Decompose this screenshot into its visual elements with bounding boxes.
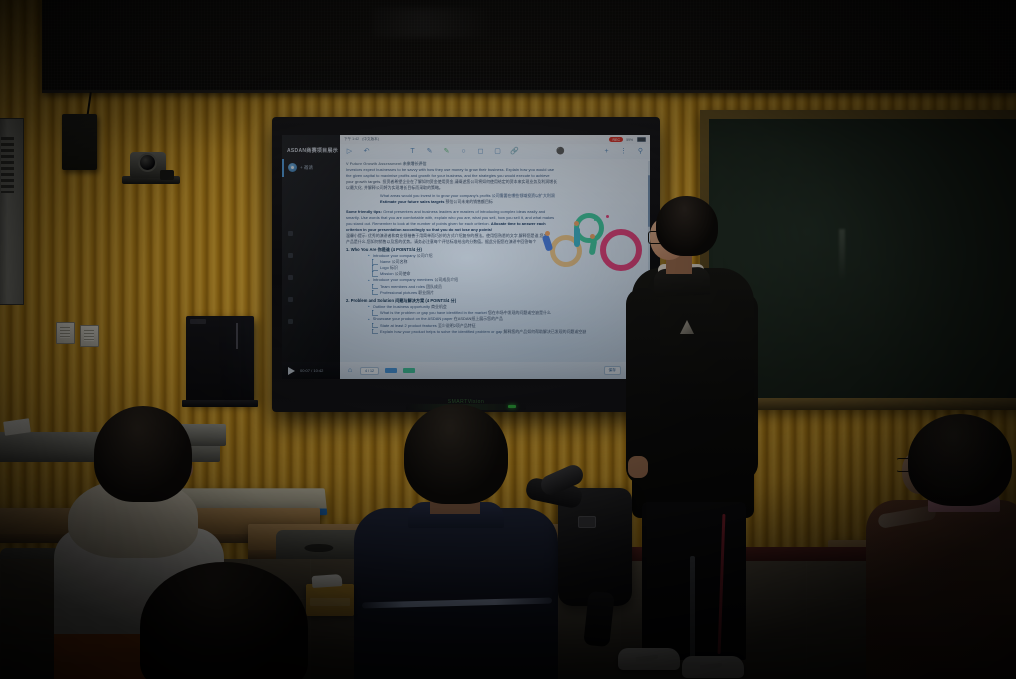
battery-label: 59% — [626, 138, 633, 142]
doc-paragraph-line-cn: 以最大化, 并解释公司将为实现增长目标而采取的策略。 — [346, 185, 644, 190]
item-cn: 职业照片 — [418, 290, 434, 295]
color-tag[interactable] — [385, 368, 397, 373]
link-icon[interactable]: 🔗 — [510, 147, 519, 156]
classroom-scene: ASDAN商赛项目展示 + 邀请 下午 1:42 (中文版本) REC — [0, 0, 1016, 679]
doc-bullet-bold-cn: 预估公司未来的销售额目标 — [446, 199, 493, 204]
student-hair — [404, 404, 508, 504]
shoe-swoosh-icon — [700, 663, 722, 670]
doc-tips-text: you stand out. Remember to look at the n… — [346, 221, 490, 226]
figure-blue-head — [545, 231, 550, 236]
wall-speaker — [62, 114, 97, 170]
item-text: Outline the business opportunity — [373, 304, 430, 309]
search-icon[interactable]: ⚲ — [636, 147, 645, 156]
doc-list-item: Explain how your product helps to solve … — [346, 329, 644, 334]
doc-heading-faded: V Future Growth Assessment 未来增长评估 — [346, 161, 644, 166]
doc-list-item: Mission 公司使命 — [346, 271, 644, 276]
spark-dot — [594, 219, 596, 221]
sidebar-item-4[interactable] — [288, 297, 293, 302]
cabinet-latch — [236, 323, 238, 349]
item-text: Introduce your company members — [373, 277, 434, 282]
doc-tips-bold: Allocate time to answer each — [491, 221, 546, 226]
section-title-cn: 你是谁 — [378, 247, 390, 252]
presenter-leg-gap — [690, 556, 695, 662]
item-text: What is the problem or gap you have iden… — [380, 310, 487, 315]
student-hair — [94, 406, 192, 502]
home-icon[interactable]: ⌂ — [346, 367, 354, 375]
camera-secondary-module — [160, 170, 174, 180]
item-cn: 解释您的产品如何帮助解决已发现的问题或空缺 — [504, 329, 587, 334]
section-points: (4 POINTS/4 分) — [391, 247, 422, 252]
eraser-icon[interactable]: ○ — [459, 147, 468, 156]
app-sidebar[interactable]: ASDAN商赛项目展示 + 邀请 — [282, 135, 340, 379]
page-indicator: 4 / 12 — [360, 367, 379, 375]
presenter-arm-left — [626, 288, 660, 484]
panel-highlight — [372, 8, 542, 38]
more-icon[interactable]: ⋮ — [619, 147, 628, 156]
document-body[interactable]: V Future Growth Assessment 未来增长评估 Invest… — [346, 161, 644, 371]
doc-paragraph-line: the given capital to maximise profits an… — [346, 173, 644, 178]
item-cn: 公司介绍 — [417, 253, 433, 258]
item-cn: 公司使命 — [395, 271, 411, 276]
shape-icon[interactable]: ◻ — [476, 147, 485, 156]
section-title-en: Problem and Solution — [351, 298, 394, 303]
item-text: Explain how your product helps to solve … — [380, 329, 502, 334]
vent-grille — [1, 137, 14, 193]
light-switch[interactable] — [56, 322, 75, 344]
sneaker-left — [618, 648, 680, 670]
item-cn: 商业机会 — [431, 304, 447, 309]
mic-icon[interactable]: ⚫ — [556, 147, 565, 156]
doc-list-item: Logo 标识 — [346, 265, 644, 270]
recording-badge: REC — [609, 137, 623, 142]
sidebar-item-3[interactable] — [288, 275, 293, 280]
doc-section-heading: 2. Problem and Solution 问题与解决方案 (4 POINT… — [346, 298, 644, 303]
display-screen[interactable]: ASDAN商赛项目展示 + 邀请 下午 1:42 (中文版本) REC — [282, 135, 650, 379]
section-number: 1. — [346, 247, 350, 252]
text-icon[interactable]: T — [408, 147, 417, 156]
sidebar-active-indicator — [282, 159, 284, 177]
tissue-sheet — [312, 574, 343, 588]
backpack — [522, 466, 634, 642]
spark-dot — [606, 215, 609, 218]
doc-tips-label: Some friendly tips: — [346, 209, 382, 214]
item-text: Showcase your product on the ASDAN paper — [373, 316, 453, 321]
section-title-en: Who You Are — [351, 247, 377, 252]
section-title-cn: 问题与解决方案 — [395, 298, 424, 303]
student-hair — [908, 414, 1012, 506]
sidebar-item-5[interactable] — [288, 319, 293, 324]
cabinet-badge — [190, 319, 206, 324]
ceiling-acoustic-panel — [42, 0, 1016, 93]
status-bar: 下午 1:42 (中文版本) REC 59% — [340, 135, 650, 144]
doc-tips-text: Great presenters and business leaders ar… — [383, 209, 545, 214]
sidebar-item-1[interactable] — [288, 231, 293, 236]
item-cn: 公司名称 — [392, 259, 408, 264]
status-network: (中文版本) — [362, 137, 379, 142]
item-cn: 在ASDAN纸上展示您的产品 — [454, 316, 503, 321]
backpack-buckle — [578, 516, 596, 528]
doc-list-item: Name 公司名称 — [346, 259, 644, 264]
tissue-box-band — [310, 598, 350, 606]
figure-green-head — [590, 234, 595, 239]
presenter — [620, 196, 770, 666]
shoe-swoosh-icon — [636, 655, 658, 662]
item-cn: 至少说明2项产品特征 — [438, 323, 476, 328]
presenter-hair — [656, 196, 718, 256]
app-title: ASDAN商赛项目展示 — [287, 147, 338, 154]
invite-label: + 邀请 — [300, 165, 313, 171]
video-timestamp: 00:07 / 10:42 — [300, 368, 323, 373]
doc-paragraph-line-cn: your growth targets. 投资者希望企业在了解如何资金使用资金,… — [346, 179, 644, 184]
color-tag[interactable] — [403, 368, 415, 373]
battery-icon — [637, 137, 646, 143]
item-text: Mission — [380, 271, 394, 276]
document-canvas[interactable]: 下午 1:42 (中文版本) REC 59% ▷ ↶ T ✎ ✎ ○ ◻ ▢ — [340, 135, 650, 379]
doc-list-item: Showcase your product on the ASDAN paper… — [346, 316, 644, 322]
figure-green — [589, 239, 598, 256]
item-cn: 您在市场中发现的问题或空缺是什么 — [488, 310, 551, 315]
doc-paragraph-line: Investors expect businesses to be savvy … — [346, 167, 644, 172]
backpack-hanging-strap — [583, 591, 615, 647]
doc-list-item: State at least 2 product features 至少说明2项… — [346, 323, 644, 328]
item-cn: 公司成员介绍 — [434, 277, 458, 282]
item-text: Logo — [380, 265, 389, 270]
figure-teal — [574, 227, 580, 247]
play-icon[interactable] — [288, 367, 295, 375]
document-footer-bar[interactable]: ⌂ 4 / 12 保存 更多 — [340, 362, 650, 379]
item-text: Professional pictures — [380, 290, 417, 295]
pen-icon[interactable]: ✎ — [425, 147, 434, 156]
smart-display[interactable]: ASDAN商赛项目展示 + 邀请 下午 1:42 (中文版本) REC — [272, 117, 660, 412]
status-time: 下午 1:42 — [344, 137, 359, 142]
select-icon[interactable]: ▷ — [345, 147, 354, 156]
save-button[interactable]: 保存 — [604, 366, 621, 375]
item-cn: 标识 — [390, 265, 398, 270]
section-number: 2. — [346, 298, 350, 303]
doc-list-item: Team members and roles 团队成员 — [346, 284, 644, 289]
doc-list-item: Professional pictures 职业照片 — [346, 290, 644, 295]
student-brown — [866, 414, 1016, 679]
doc-list-item: Outline the business opportunity 商业机会 — [346, 304, 644, 310]
camera-lens-icon — [140, 155, 155, 170]
item-cn: 团队成员 — [426, 284, 442, 289]
doc-bullet-bold: Estimate your future sales targets 预估公司未… — [346, 199, 644, 204]
add-icon[interactable]: + — [602, 147, 611, 156]
student-hair — [140, 562, 308, 679]
item-text: Introduce your company — [373, 253, 416, 258]
tag-icon[interactable]: ▢ — [493, 147, 502, 156]
doc-bullet: What areas would you invest in to grow y… — [346, 193, 644, 198]
student-front — [140, 562, 310, 679]
doc-list-item: What is the problem or gap you have iden… — [346, 310, 644, 315]
item-text: Name — [380, 259, 391, 264]
highlighter-icon[interactable]: ✎ — [442, 147, 451, 156]
sneaker-right — [682, 656, 744, 678]
section-points: (4 POINTS/4 分) — [425, 298, 456, 303]
avatar — [288, 163, 297, 172]
undo-icon[interactable]: ↶ — [362, 147, 371, 156]
wall-cabinet[interactable] — [186, 316, 254, 402]
sidebar-item-2[interactable] — [288, 253, 293, 258]
item-text: State at least 2 product features — [380, 323, 437, 328]
sidebar-user[interactable]: + 邀请 — [288, 163, 313, 172]
light-switch[interactable] — [80, 325, 99, 347]
wall-access-panel — [0, 118, 24, 305]
chair-handle-cutout — [304, 544, 333, 553]
chalk-smudge — [839, 229, 845, 281]
editor-toolbar[interactable]: ▷ ↶ T ✎ ✎ ○ ◻ ▢ 🔗 ⚫ + ⋮ ⚲ — [340, 144, 650, 159]
doc-list-item: Introduce your company members 公司成员介绍 — [346, 277, 644, 283]
item-text: Team members and roles — [380, 284, 425, 289]
tissue-box — [306, 584, 354, 616]
figure-teal-head — [574, 221, 579, 226]
doc-bullet-bold-text: Estimate your future sales targets — [380, 199, 444, 204]
